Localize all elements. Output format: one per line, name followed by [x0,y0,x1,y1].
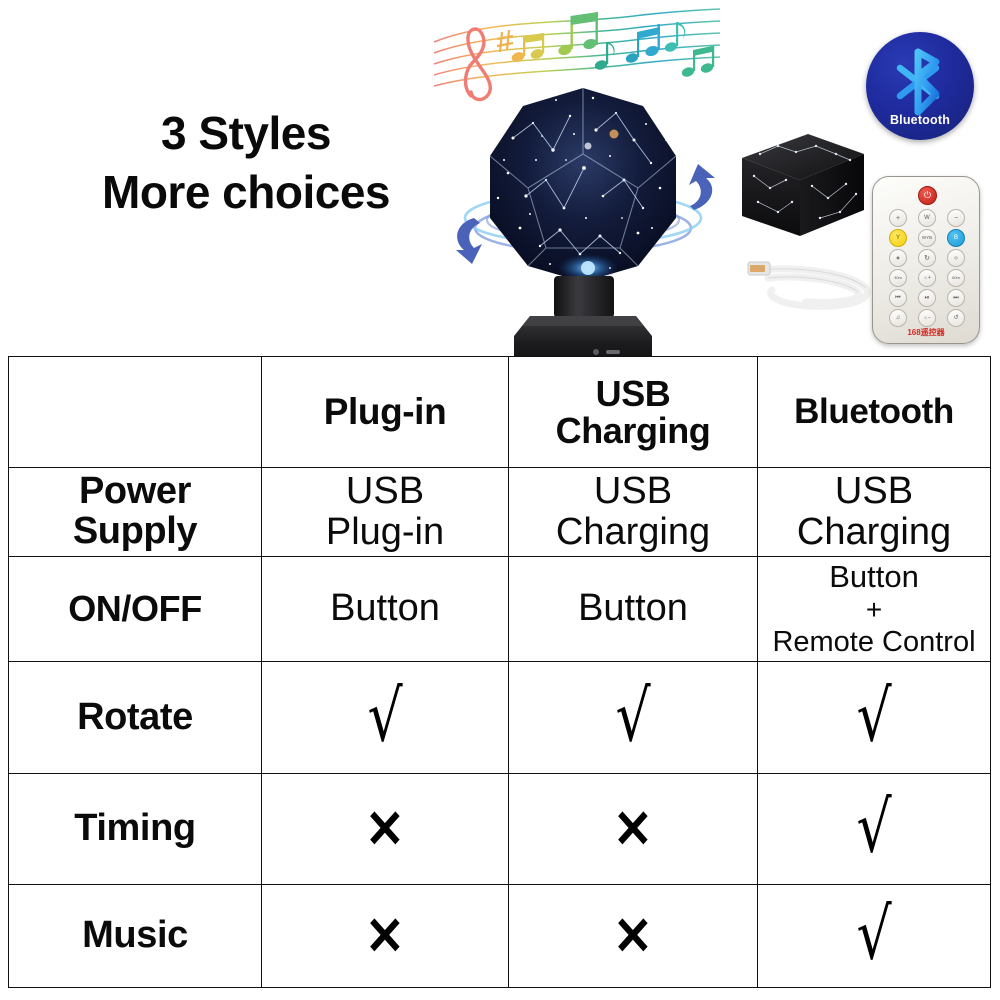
header-usb-line1: USB [596,373,671,414]
cell-power-usb-line1: USB [513,471,753,512]
remote-control: ⏻ + W − Y WYB B ◉ ↻ ◎ 30m ☼+ 60m ⏮ ⏯ ⏭ ♫… [872,176,980,344]
usb-cable [742,248,882,322]
remote-button-minus[interactable]: − [947,209,965,227]
header-cell-usb-charging: USB Charging [509,357,758,468]
row-label-rotate: Rotate [9,662,262,774]
remote-button-slowflash[interactable]: ◎ [947,249,965,267]
check-icon: √ [367,689,402,744]
hero-banner: 3 Styles More choices [0,0,1000,356]
cell-onoff-plugin: Button [262,556,509,661]
cell-power-plugin-line1: USB [266,471,504,512]
remote-button-w[interactable]: W [918,209,936,227]
remote-model-label: 168遥控器 [873,327,979,338]
cross-icon: ✕ [613,805,652,852]
cell-rotate-plugin: √ [262,662,509,774]
cross-icon: ✕ [365,805,404,852]
cell-onoff-bt-line2: + [762,594,986,625]
star-projector-lamp [438,68,728,356]
remote-button-music[interactable]: ♫ [889,309,907,327]
cell-power-usb: USB Charging [509,468,758,557]
row-label-onoff-text: ON/OFF [68,588,202,629]
comparison-table-wrapper: Plug-in USB Charging Bluetooth Power Sup… [8,356,990,988]
rotate-arrow-right [689,164,715,210]
check-icon: √ [856,689,891,744]
header-cell-empty [9,357,262,468]
cell-timing-bluetooth: √ [758,774,991,885]
table-row-on-off: ON/OFF Button Button Button + Remote Con… [9,556,991,661]
bluetooth-label: Bluetooth [866,113,974,127]
cell-timing-usb: ✕ [509,774,758,885]
cell-onoff-bt-line3: Remote Control [762,626,986,658]
row-label-rotate-text: Rotate [77,696,193,738]
remote-power-button[interactable]: ⏻ [918,186,937,205]
cell-music-plugin: ✕ [262,885,509,988]
cell-timing-plugin: ✕ [262,774,509,885]
cell-onoff-bt-line1: Button [762,560,986,595]
remote-button-next[interactable]: ⏭ [947,289,965,307]
cell-music-usb: ✕ [509,885,758,988]
header-usb-line2: Charging [556,410,711,451]
remote-button-timer-60[interactable]: 60m [947,269,965,287]
cell-power-bluetooth: USB Charging [758,468,991,557]
header-cell-bluetooth: Bluetooth [758,357,991,468]
row-label-timing: Timing [9,774,262,885]
check-icon: √ [856,801,891,856]
header-bluetooth-label: Bluetooth [794,392,954,431]
cell-rotate-usb: √ [509,662,758,774]
cross-icon: ✕ [365,912,404,959]
cell-power-usb-line2: Charging [513,512,753,553]
table-row-power-supply: Power Supply USB Plug-in USB Charging US… [9,468,991,557]
page-title: 3 Styles More choices [46,104,446,222]
cell-onoff-usb-text: Button [578,587,688,629]
row-label-power-line2: Supply [73,510,197,552]
remote-button-timer-30[interactable]: 30m [889,269,907,287]
cell-power-bt-line2: Charging [762,512,986,553]
check-icon: √ [615,689,650,744]
remote-button-plus[interactable]: + [889,209,907,227]
row-label-music: Music [9,885,262,988]
table-row-timing: Timing ✕ ✕ √ [9,774,991,885]
cross-icon: ✕ [613,912,652,959]
cell-power-plugin: USB Plug-in [262,468,509,557]
remote-button-prev[interactable]: ⏮ [889,289,907,307]
cell-power-plugin-line2: Plug-in [266,512,504,553]
cell-onoff-usb: Button [509,556,758,661]
headline-line-2: More choices [46,163,446,222]
remote-button-mode[interactable]: ↺ [947,309,965,327]
row-label-power-supply: Power Supply [9,468,262,557]
infographic-page: 3 Styles More choices [0,0,1000,1000]
rotate-arrow-left [456,218,482,264]
bluetooth-icon [892,48,948,121]
remote-button-b[interactable]: B [947,229,965,247]
cell-onoff-plugin-text: Button [330,587,440,629]
check-icon: √ [856,908,891,963]
remote-button-rotate[interactable]: ↻ [918,249,936,267]
comparison-table: Plug-in USB Charging Bluetooth Power Sup… [8,356,991,988]
cell-onoff-bluetooth: Button + Remote Control [758,556,991,661]
cell-power-bt-line1: USB [762,471,986,512]
bluetooth-badge: Bluetooth [866,32,974,140]
remote-button-bright-down[interactable]: ☼− [918,309,936,327]
row-label-music-text: Music [82,914,188,956]
row-label-power-line1: Power [79,470,191,512]
row-label-timing-text: Timing [74,807,195,849]
gift-box [730,124,870,246]
remote-button-play-pause[interactable]: ⏯ [918,289,936,307]
remote-button-wyb[interactable]: WYB [918,229,936,247]
cell-music-bluetooth: √ [758,885,991,988]
remote-button-flash[interactable]: ◉ [889,249,907,267]
table-row-rotate: Rotate √ √ √ [9,662,991,774]
cell-rotate-bluetooth: √ [758,662,991,774]
remote-button-y[interactable]: Y [889,229,907,247]
row-label-on-off: ON/OFF [9,556,262,661]
header-plugin-label: Plug-in [324,391,447,432]
table-header-row: Plug-in USB Charging Bluetooth [9,357,991,468]
header-cell-plugin: Plug-in [262,357,509,468]
headline-line-1: 3 Styles [46,104,446,163]
table-row-music: Music ✕ ✕ √ [9,885,991,988]
remote-button-bright-up[interactable]: ☼+ [918,269,936,287]
